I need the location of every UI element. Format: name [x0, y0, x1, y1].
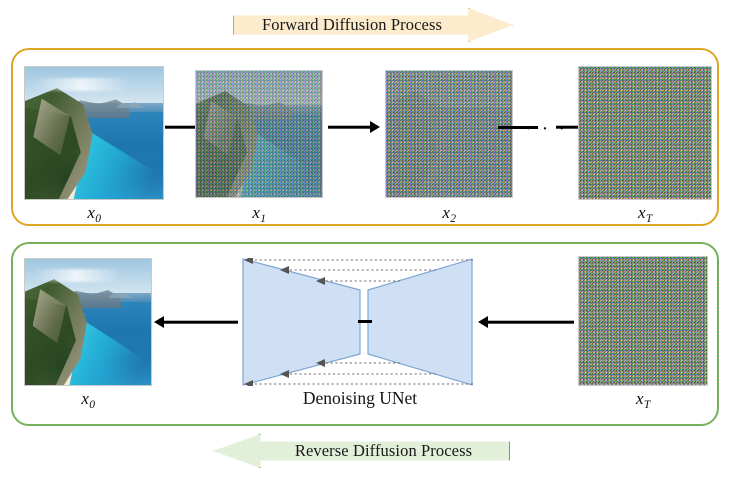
forward-sample-x0	[24, 66, 164, 200]
forward-process-banner: Forward Diffusion Process	[233, 8, 513, 42]
coastal-photo	[25, 259, 151, 385]
unet-encoder-trapezoid	[243, 259, 360, 385]
denoising-unet-label: Denoising UNet	[250, 388, 470, 409]
denoising-unet	[240, 258, 476, 386]
diffusion-diagram: Forward Diffusion Process x0	[0, 0, 730, 480]
noise-overlay	[579, 67, 711, 199]
reverse-process-label: Reverse Diffusion Process	[295, 441, 472, 461]
arrow-left-icon-xT-to-unet	[478, 316, 574, 328]
reverse-process-banner: Reverse Diffusion Process	[213, 434, 510, 468]
reverse-input-xT	[578, 256, 708, 386]
forward-process-label: Forward Diffusion Process	[262, 15, 442, 35]
arrow-right-icon-x1-x2	[328, 121, 380, 133]
coastal-photo	[25, 67, 163, 199]
reverse-label-x0: x0	[24, 389, 152, 409]
unet-decoder-trapezoid	[368, 259, 472, 385]
forward-sample-x2	[385, 70, 513, 198]
arrow-left-icon-unet-to-x0	[154, 316, 238, 328]
forward-label-xT: xT	[578, 203, 712, 223]
unet-shapes	[240, 258, 476, 386]
noise-overlay	[579, 257, 707, 385]
forward-label-x0: x0	[24, 203, 164, 223]
unet-bottleneck-connector	[358, 320, 372, 323]
forward-sample-x1	[195, 70, 323, 198]
forward-label-x1: x1	[195, 203, 323, 223]
noise-overlay	[196, 71, 322, 197]
reverse-output-x0	[24, 258, 152, 386]
forward-sample-xT	[578, 66, 712, 200]
forward-label-x2: x2	[385, 203, 513, 223]
reverse-label-xT: xT	[578, 389, 708, 409]
noise-overlay	[386, 71, 512, 197]
